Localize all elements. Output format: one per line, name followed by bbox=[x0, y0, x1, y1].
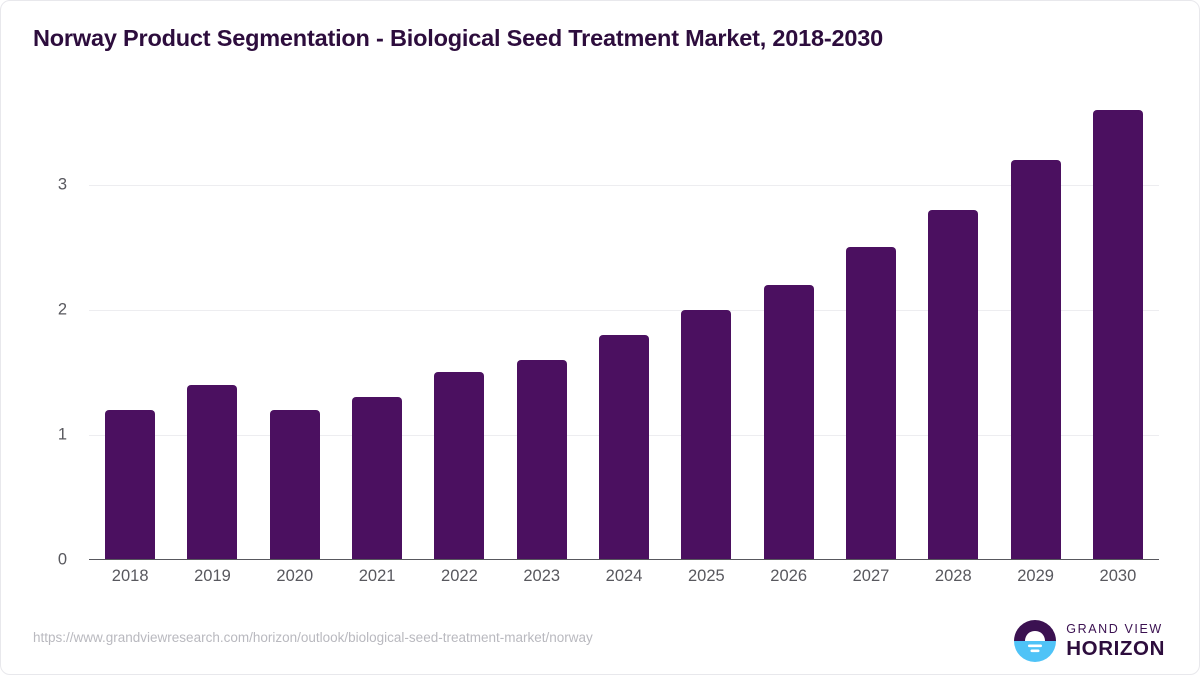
plot-area bbox=[89, 81, 1159, 560]
x-axis-tick-label: 2022 bbox=[418, 567, 500, 586]
x-axis-line bbox=[89, 559, 1159, 561]
x-axis-tick-label: 2018 bbox=[89, 567, 171, 586]
bar-2023[interactable] bbox=[517, 360, 567, 560]
x-axis-tick-label: 2030 bbox=[1077, 567, 1159, 586]
bar-2020[interactable] bbox=[270, 410, 320, 560]
bar-slot bbox=[1077, 81, 1159, 560]
logo-top-text: GRAND VIEW bbox=[1066, 623, 1165, 636]
bar-2018[interactable] bbox=[105, 410, 155, 560]
logo-bottom-text: HORIZON bbox=[1066, 639, 1165, 660]
bar-2022[interactable] bbox=[434, 372, 484, 560]
bar-2029[interactable] bbox=[1011, 160, 1061, 560]
x-axis-tick-label: 2021 bbox=[336, 567, 418, 586]
grand-view-horizon-logo: GRAND VIEW HORIZON bbox=[1013, 619, 1165, 663]
y-axis-tick-label: 2 bbox=[58, 300, 67, 319]
bar-2021[interactable] bbox=[352, 397, 402, 560]
bar-slot bbox=[89, 81, 171, 560]
x-axis-tick-label: 2020 bbox=[254, 567, 336, 586]
bar-series bbox=[89, 81, 1159, 560]
bar-2030[interactable] bbox=[1093, 110, 1143, 560]
bar-2024[interactable] bbox=[599, 335, 649, 560]
logo-wordmark: GRAND VIEW HORIZON bbox=[1066, 623, 1165, 659]
bar-2028[interactable] bbox=[928, 210, 978, 560]
x-axis-tick-label: 2026 bbox=[748, 567, 830, 586]
bar-slot bbox=[912, 81, 994, 560]
bar-slot bbox=[830, 81, 912, 560]
x-axis-tick-label: 2029 bbox=[994, 567, 1076, 586]
x-axis-tick-label: 2024 bbox=[583, 567, 665, 586]
bar-slot bbox=[171, 81, 253, 560]
bar-slot bbox=[254, 81, 336, 560]
bar-slot bbox=[583, 81, 665, 560]
x-axis-tick-label: 2027 bbox=[830, 567, 912, 586]
x-axis-tick-label: 2025 bbox=[665, 567, 747, 586]
x-axis-tick-label: 2028 bbox=[912, 567, 994, 586]
chart-card: Norway Product Segmentation - Biological… bbox=[0, 0, 1200, 675]
x-axis-tick-labels: 2018201920202021202220232024202520262027… bbox=[89, 567, 1159, 586]
bar-slot bbox=[336, 81, 418, 560]
bar-slot bbox=[665, 81, 747, 560]
bar-slot bbox=[501, 81, 583, 560]
bar-slot bbox=[418, 81, 500, 560]
y-axis-tick-label: 3 bbox=[58, 175, 67, 194]
page-title: Norway Product Segmentation - Biological… bbox=[33, 25, 883, 52]
x-axis-tick-label: 2023 bbox=[501, 567, 583, 586]
bar-slot bbox=[748, 81, 830, 560]
bar-2025[interactable] bbox=[681, 310, 731, 560]
bar-2026[interactable] bbox=[764, 285, 814, 560]
horizon-logo-icon bbox=[1013, 619, 1057, 663]
bar-slot bbox=[994, 81, 1076, 560]
x-axis-tick-label: 2019 bbox=[171, 567, 253, 586]
bar-2027[interactable] bbox=[846, 247, 896, 560]
y-axis-tick-label: 1 bbox=[58, 425, 67, 444]
y-axis-tick-label: 0 bbox=[58, 551, 67, 570]
source-url[interactable]: https://www.grandviewresearch.com/horizo… bbox=[33, 630, 593, 645]
bar-2019[interactable] bbox=[187, 385, 237, 560]
y-axis-tick-labels: 0123 bbox=[1, 81, 89, 560]
